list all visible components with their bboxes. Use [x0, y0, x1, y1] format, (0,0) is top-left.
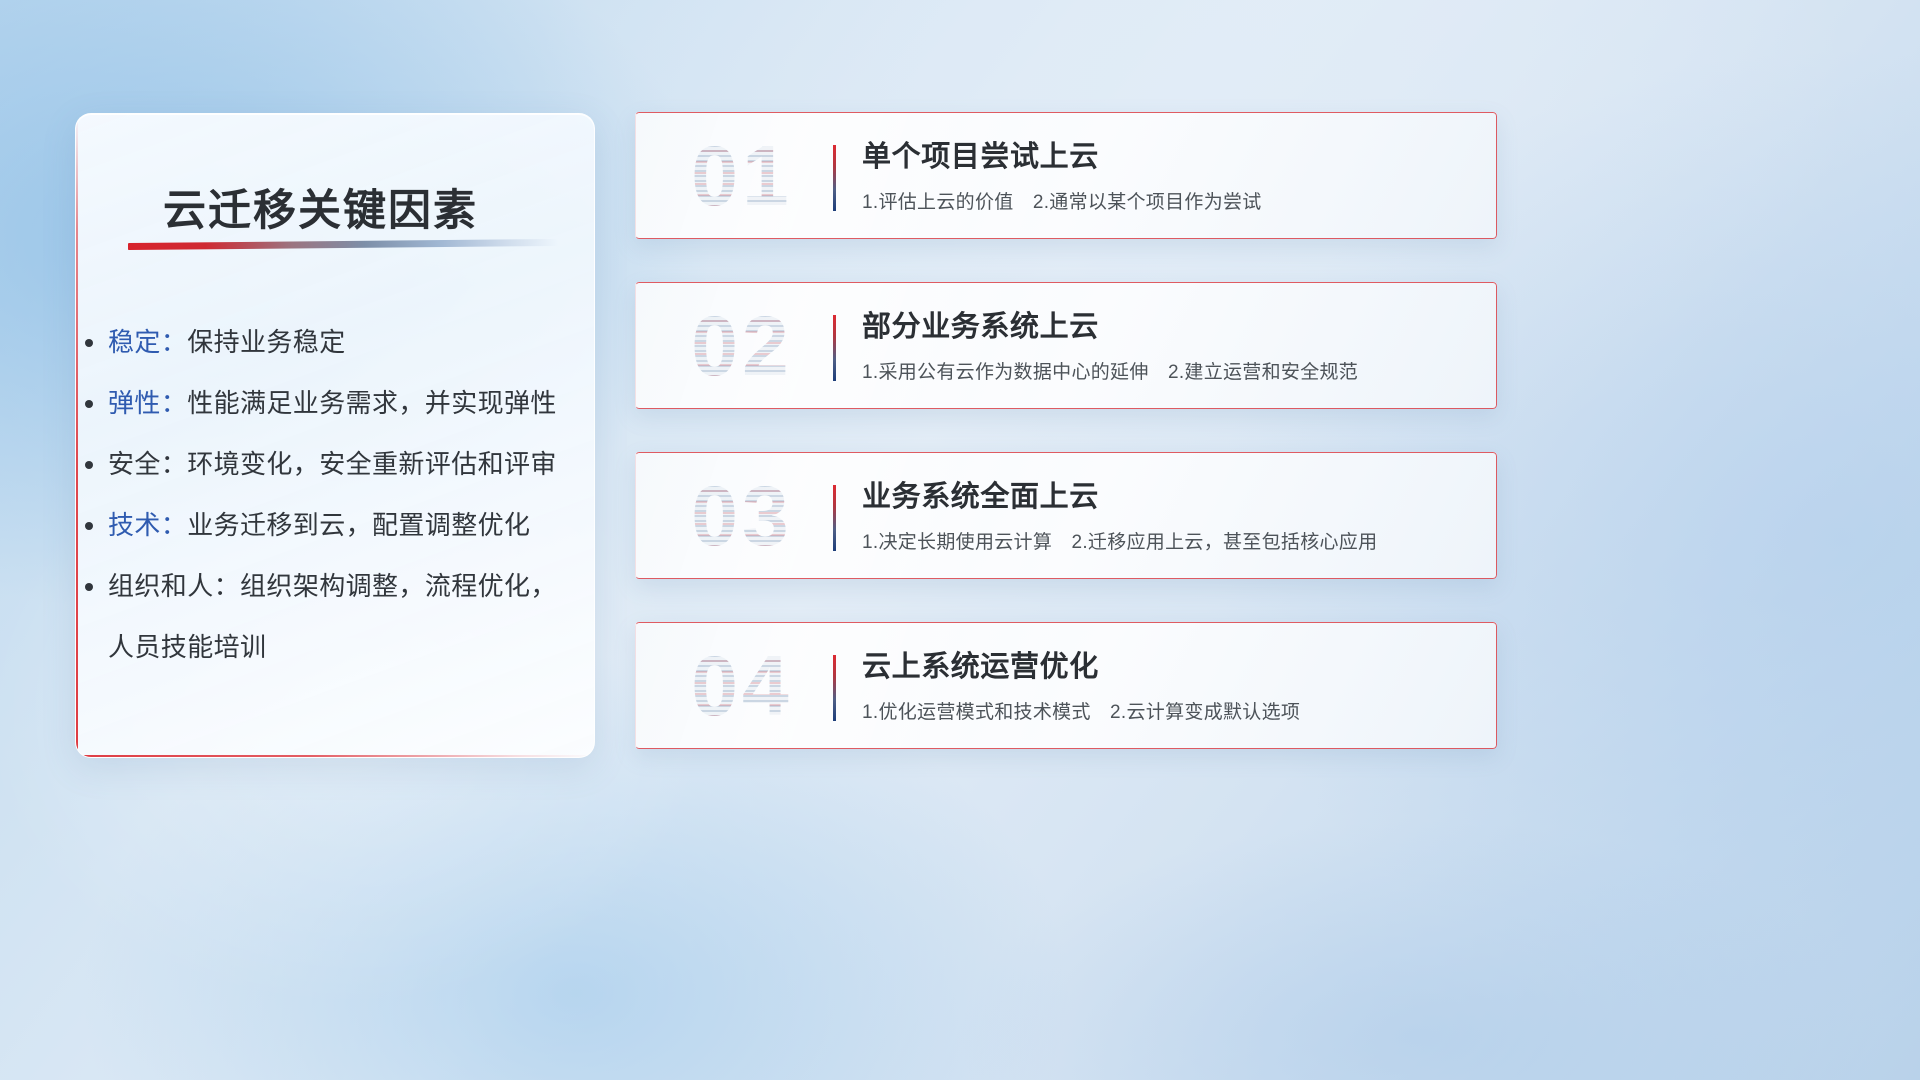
stage-title: 云上系统运营优化 — [862, 648, 1479, 686]
factor-label: 稳定： — [108, 327, 187, 357]
factor-label: 安全： — [108, 449, 187, 479]
page-title: 云迁移关键因素 — [163, 176, 478, 238]
stage-card-03[interactable]: 03 03 业务系统全面上云 1.决定长期使用云计算 2.迁移应用上云，甚至包括… — [635, 452, 1497, 579]
stage-description: 1.采用公有云作为数据中心的延伸 2.建立运营和安全规范 — [862, 360, 1479, 386]
stage-number-red-overlay: 04 — [657, 640, 827, 732]
factor-value: 环境变化，安全重新评估和评审 — [187, 449, 557, 479]
stage-description: 1.决定长期使用云计算 2.迁移应用上云，甚至包括核心应用 — [862, 530, 1479, 556]
list-item: 弹性：性能满足业务需求，并实现弹性 — [108, 373, 572, 434]
stage-divider-bar — [833, 655, 836, 721]
stage-title: 单个项目尝试上云 — [862, 138, 1479, 176]
stage-card-01[interactable]: 01 01 单个项目尝试上云 1.评估上云的价值 2.通常以某个项目作为尝试 — [635, 112, 1497, 239]
stage-content: 云上系统运营优化 1.优化运营模式和技术模式 2.云计算变成默认选项 — [862, 648, 1479, 726]
stage-divider-bar — [833, 315, 836, 381]
stage-title: 业务系统全面上云 — [862, 478, 1479, 516]
stage-card-04[interactable]: 04 04 云上系统运营优化 1.优化运营模式和技术模式 2.云计算变成默认选项 — [635, 622, 1497, 749]
stage-content: 单个项目尝试上云 1.评估上云的价值 2.通常以某个项目作为尝试 — [862, 138, 1479, 216]
stage-number: 02 — [657, 300, 827, 392]
stage-description: 1.评估上云的价值 2.通常以某个项目作为尝试 — [862, 190, 1479, 216]
title-underline-rule — [128, 239, 558, 250]
stage-card-02[interactable]: 02 02 部分业务系统上云 1.采用公有云作为数据中心的延伸 2.建立运营和安… — [635, 282, 1497, 409]
slide-canvas: 云迁移关键因素 稳定：保持业务稳定 弹性：性能满足业务需求，并实现弹性 安全：环… — [0, 0, 1920, 1080]
factor-value: 业务迁移到云，配置调整优化 — [187, 510, 530, 540]
factor-label: 组织和人： — [108, 571, 240, 601]
list-item: 稳定：保持业务稳定 — [108, 312, 572, 373]
key-factors-panel: 云迁移关键因素 稳定：保持业务稳定 弹性：性能满足业务需求，并实现弹性 安全：环… — [75, 113, 595, 758]
list-item: 安全：环境变化，安全重新评估和评审 — [108, 434, 572, 495]
stage-number-red-overlay: 03 — [657, 470, 827, 562]
stage-content: 部分业务系统上云 1.采用公有云作为数据中心的延伸 2.建立运营和安全规范 — [862, 308, 1479, 386]
migration-stage-list: 01 01 单个项目尝试上云 1.评估上云的价值 2.通常以某个项目作为尝试 0… — [635, 112, 1497, 749]
stage-divider-bar — [833, 145, 836, 211]
factor-list: 稳定：保持业务稳定 弹性：性能满足业务需求，并实现弹性 安全：环境变化，安全重新… — [108, 312, 572, 678]
factor-value: 保持业务稳定 — [187, 327, 345, 357]
stage-divider-bar — [833, 485, 836, 551]
stage-content: 业务系统全面上云 1.决定长期使用云计算 2.迁移应用上云，甚至包括核心应用 — [862, 478, 1479, 556]
stage-title: 部分业务系统上云 — [862, 308, 1479, 346]
factor-label: 技术： — [108, 510, 187, 540]
factor-value: 性能满足业务需求，并实现弹性 — [187, 388, 557, 418]
stage-number-red-overlay: 02 — [657, 300, 827, 392]
list-item: 技术：业务迁移到云，配置调整优化 — [108, 495, 572, 556]
stage-number: 03 — [657, 470, 827, 562]
factor-label: 弹性： — [108, 388, 187, 418]
stage-description: 1.优化运营模式和技术模式 2.云计算变成默认选项 — [862, 700, 1479, 726]
stage-number: 04 — [657, 640, 827, 732]
stage-number-red-overlay: 01 — [657, 130, 827, 222]
list-item: 组织和人：组织架构调整，流程优化，人员技能培训 — [108, 556, 572, 678]
stage-number: 01 — [657, 130, 827, 222]
